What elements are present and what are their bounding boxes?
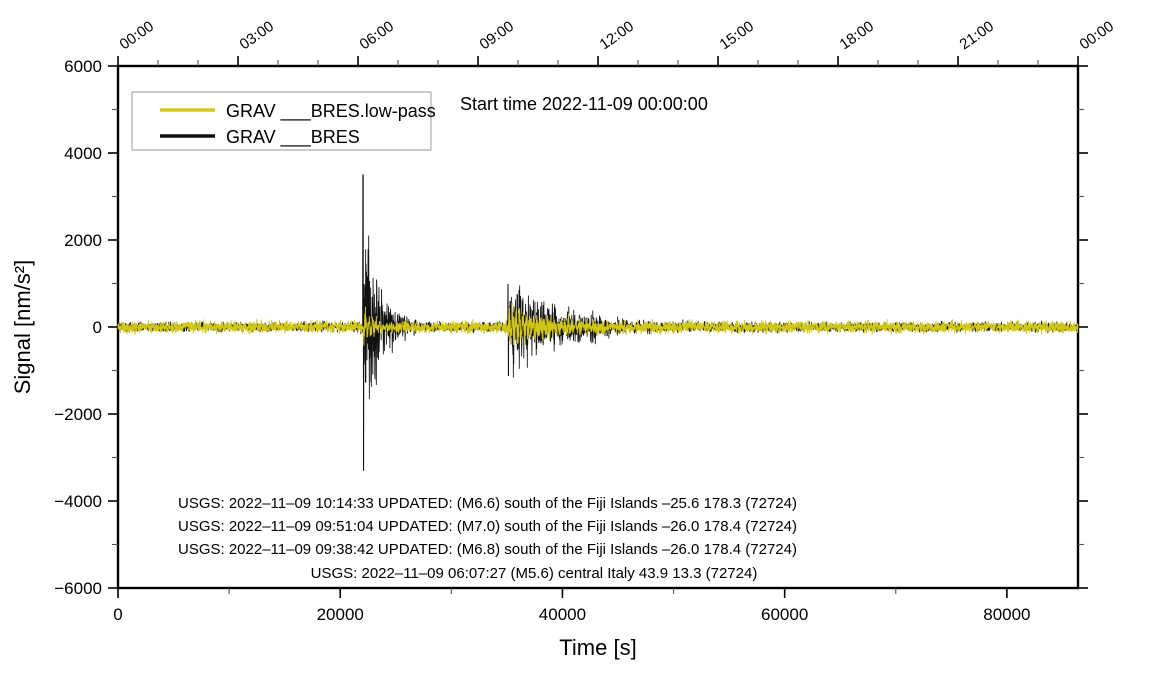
tick-label: 4000 xyxy=(64,144,102,163)
legend-label-low-pass: GRAV ___BRES.low-pass xyxy=(226,101,436,122)
y-axis-tick-labels: −6000−4000−20000200040006000 xyxy=(54,57,102,598)
top-axis-ticks xyxy=(118,56,1078,66)
tick-label: 09:00 xyxy=(477,18,518,53)
tick-label: 00:00 xyxy=(1077,18,1118,53)
usgs-annotation-line: USGS: 2022–11–09 09:51:04 UPDATED: (M7.0… xyxy=(178,518,797,535)
tick-label: 15:00 xyxy=(717,18,758,53)
tick-label: 06:00 xyxy=(357,18,398,53)
tick-label: 18:00 xyxy=(837,18,878,53)
tick-label: 12:00 xyxy=(597,18,638,53)
tick-label: 40000 xyxy=(539,605,586,624)
legend: GRAV ___BRES.low-pass GRAV ___BRES xyxy=(132,92,436,150)
tick-label: 2000 xyxy=(64,231,102,250)
tick-label: 60000 xyxy=(761,605,808,624)
chart-title: Start time 2022-11-09 00:00:00 xyxy=(460,94,708,114)
tick-label: 20000 xyxy=(317,605,364,624)
signal-traces xyxy=(118,175,1078,471)
usgs-annotations: USGS: 2022–11–09 10:14:33 UPDATED: (M6.6… xyxy=(178,495,797,582)
tick-label: −2000 xyxy=(54,405,102,424)
tick-label: −6000 xyxy=(54,579,102,598)
legend-label-bres: GRAV ___BRES xyxy=(226,127,360,148)
tick-label: 03:00 xyxy=(237,18,278,53)
trace-grav-bres-low-pass xyxy=(118,303,1078,346)
tick-label: 6000 xyxy=(64,57,102,76)
x-axis-title: Time [s] xyxy=(559,635,636,660)
x-axis-tick-labels: 020000400006000080000 xyxy=(113,605,1030,624)
x-axis-ticks xyxy=(118,588,1007,598)
top-axis-tick-labels: 00:0003:0006:0009:0012:0015:0018:0021:00… xyxy=(117,18,1118,53)
tick-label: 0 xyxy=(93,318,102,337)
usgs-annotation-line: USGS: 2022–11–09 06:07:27 (M5.6) central… xyxy=(311,565,758,582)
usgs-annotation-line: USGS: 2022–11–09 10:14:33 UPDATED: (M6.6… xyxy=(178,495,797,512)
usgs-annotation-line: USGS: 2022–11–09 09:38:42 UPDATED: (M6.8… xyxy=(178,541,797,558)
y-axis-title: Signal [nm/s²] xyxy=(10,260,35,395)
tick-label: −4000 xyxy=(54,492,102,511)
tick-label: 80000 xyxy=(983,605,1030,624)
tick-label: 00:00 xyxy=(117,18,158,53)
tick-label: 0 xyxy=(113,605,122,624)
seismogram-chart: −6000−4000−20000200040006000 02000040000… xyxy=(0,0,1151,700)
tick-label: 21:00 xyxy=(957,18,998,53)
seismogram-figure: −6000−4000−20000200040006000 02000040000… xyxy=(0,0,1151,700)
